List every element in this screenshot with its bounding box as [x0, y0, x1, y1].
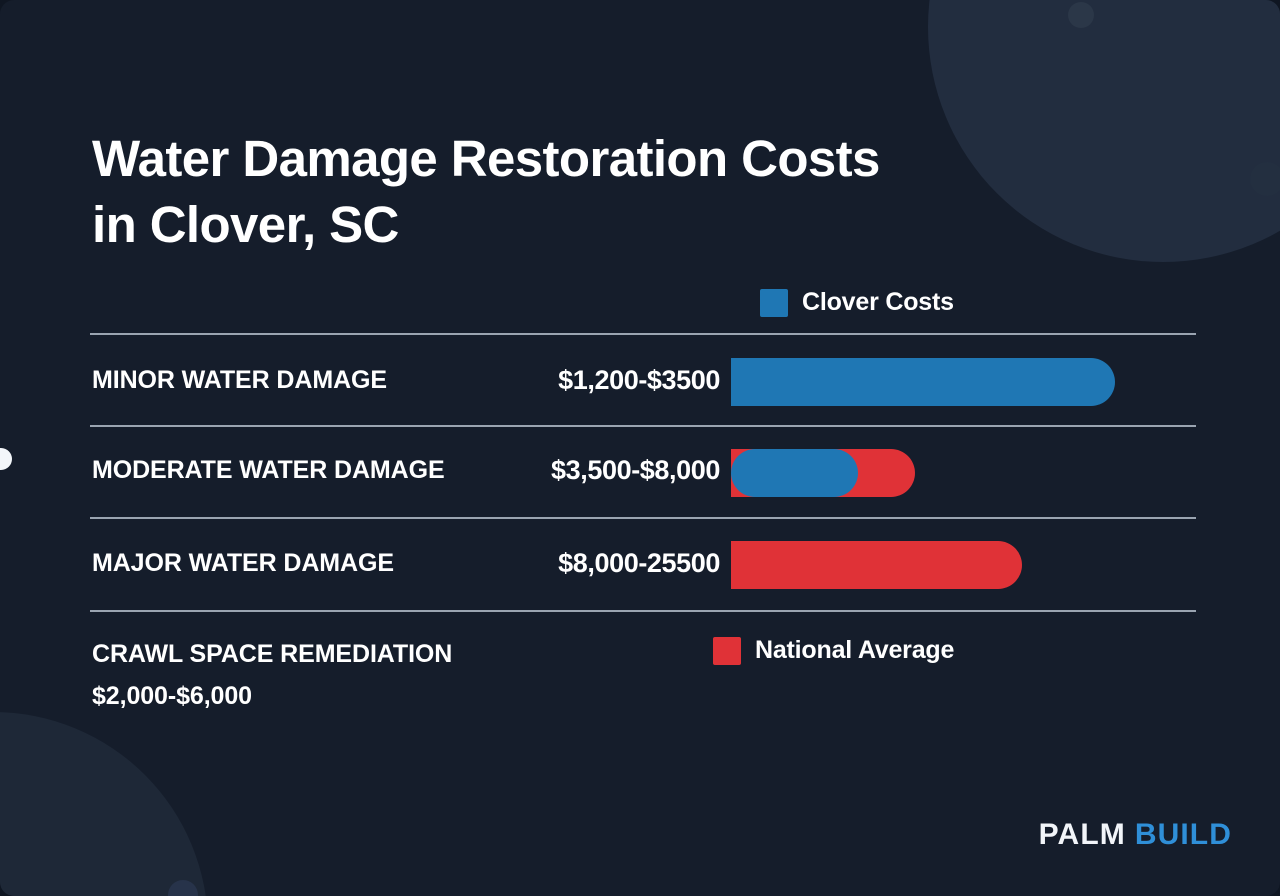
row-separator: [90, 333, 1196, 335]
bar-row-value: $8,000-25500: [300, 548, 720, 579]
brand-logo-primary: PALM: [1039, 818, 1126, 851]
brand-logo: PALMBUILD: [1039, 818, 1232, 852]
bar-chart: MINOR WATER DAMAGE $1,200-$3500 MODERATE…: [0, 0, 1280, 896]
row-separator: [90, 610, 1196, 612]
row-separator: [90, 425, 1196, 427]
bar-row-value: $3,500-$8,000: [300, 455, 720, 486]
legend-swatch-icon-national: [713, 637, 741, 665]
bar-clover-minor: [731, 358, 1115, 406]
brand-logo-secondary: BUILD: [1135, 818, 1232, 851]
bar-clover-moderate: [731, 449, 858, 497]
bar-row-label: CRAWL SPACE REMEDIATION: [92, 633, 452, 675]
infographic-canvas: Water Damage Restoration Costs in Clover…: [0, 0, 1280, 896]
bar-row-value: $1,200-$3500: [300, 365, 720, 396]
row-separator: [90, 517, 1196, 519]
legend-item-national-average: National Average: [713, 636, 954, 665]
legend-label-national: National Average: [755, 636, 954, 665]
bar-national-major: [731, 541, 1022, 589]
bar-row-value: $2,000-$6,000: [92, 675, 252, 717]
